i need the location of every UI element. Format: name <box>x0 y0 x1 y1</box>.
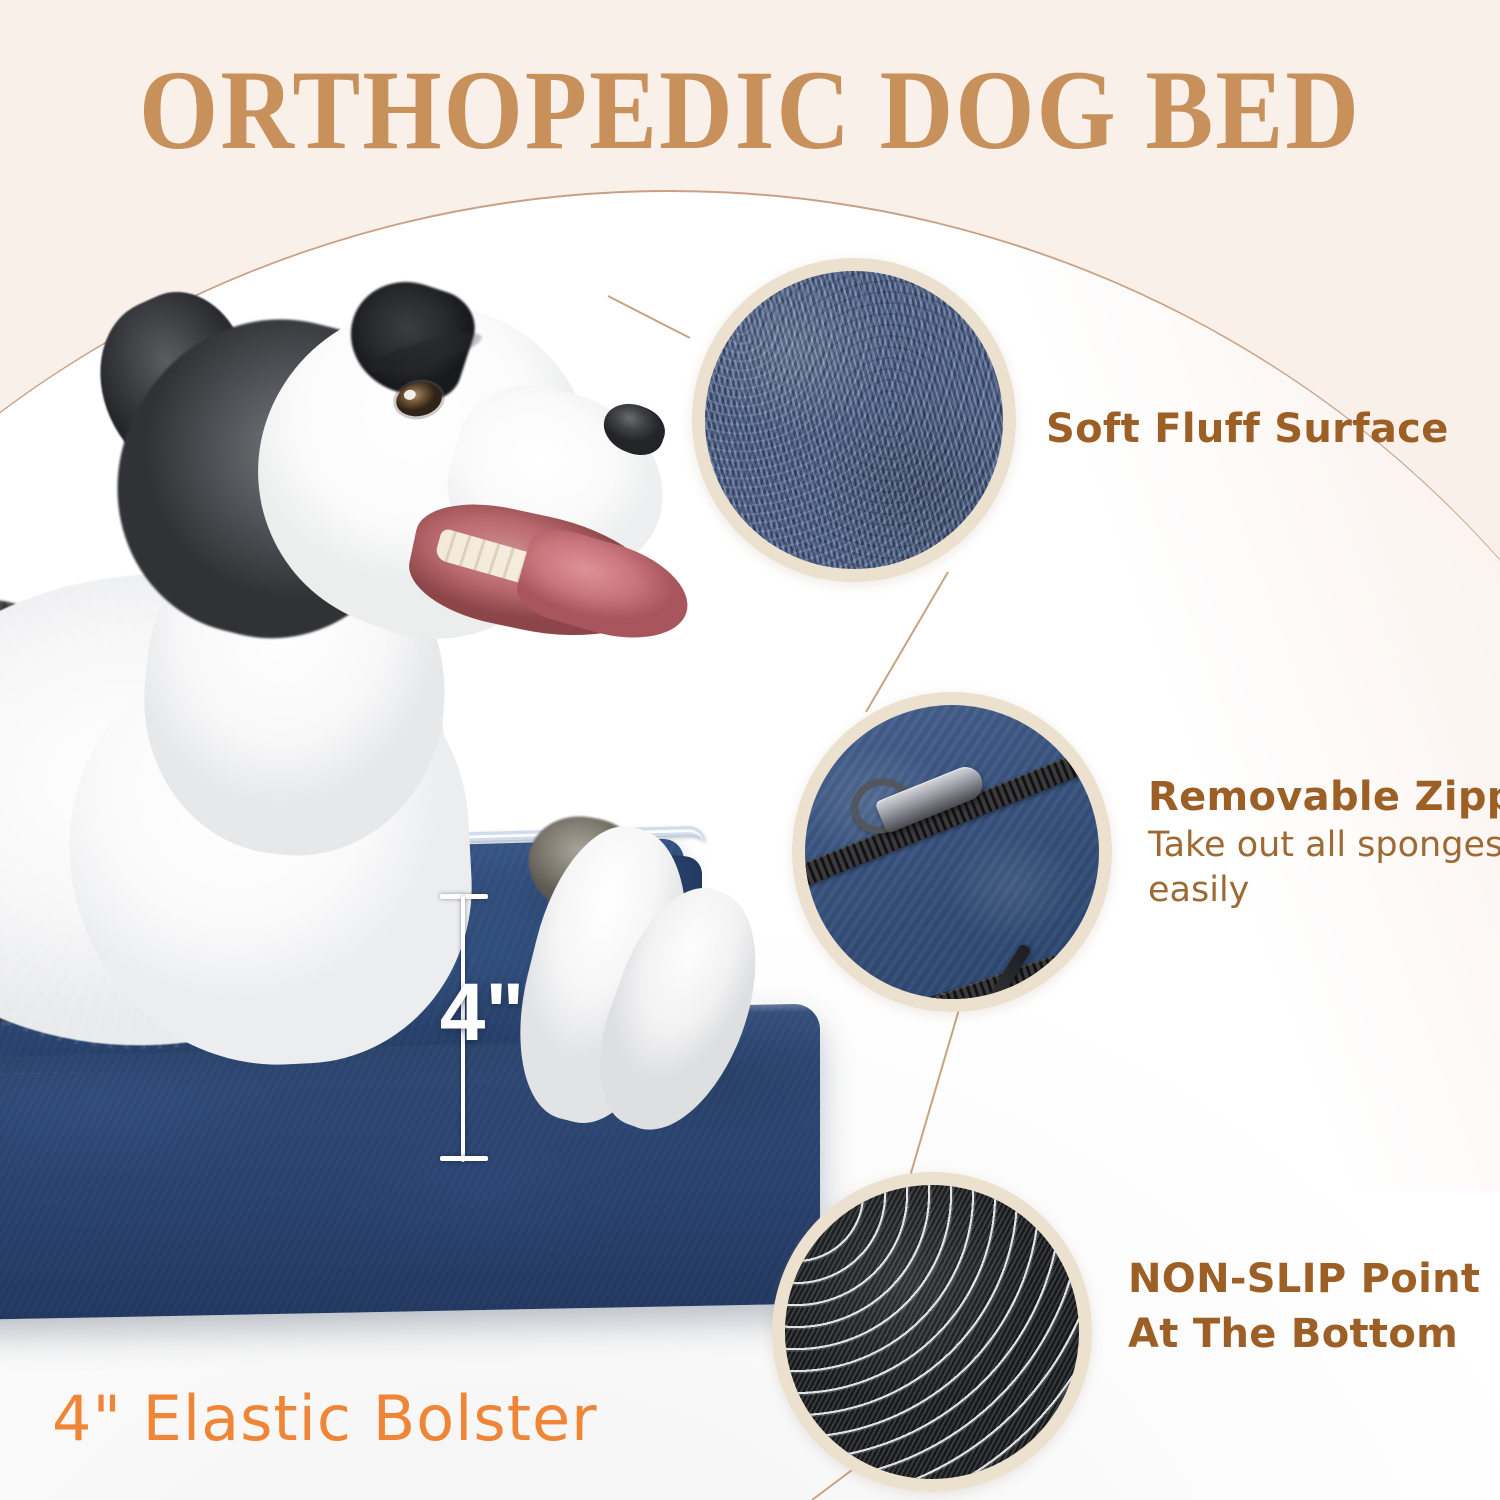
feature-label-removable-zipper: Removable Zipper Take out all sponges ea… <box>1148 772 1500 913</box>
feature-title: Removable Zipper <box>1148 772 1500 823</box>
bolster-height-dimension: 4" <box>447 888 567 1170</box>
border-collie-dog <box>0 225 720 1055</box>
feature-label-soft-fluff-surface: Soft Fluff Surface <box>1046 404 1449 455</box>
infographic-canvas: ORTHOPEDIC DOG BED <box>0 0 1500 1500</box>
page-title: ORTHOPEDIC DOG BED <box>0 44 1500 175</box>
feature-label-non-slip-point: NON-SLIP Point At The Bottom <box>1128 1252 1480 1362</box>
feature-swatch-soft-fluff-surface[interactable] <box>692 258 1016 582</box>
dog-tongue <box>511 521 699 654</box>
fluff-fabric-texture <box>705 271 1003 569</box>
feature-subtitle: Take out all sponges easily <box>1148 823 1500 913</box>
feature-title-line1: NON-SLIP Point <box>1128 1252 1480 1307</box>
feature-title: Soft Fluff Surface <box>1046 404 1449 455</box>
elastic-bolster-caption: 4" Elastic Bolster <box>52 1382 598 1455</box>
feature-swatch-removable-zipper[interactable] <box>792 692 1112 1012</box>
nonslip-dotted-texture <box>785 1185 1079 1479</box>
dimension-cap-bottom <box>440 1156 488 1161</box>
feature-title-line2: At The Bottom <box>1128 1307 1480 1362</box>
dimension-value-label: 4" <box>417 972 547 1054</box>
feature-swatch-non-slip-point[interactable] <box>772 1172 1092 1492</box>
